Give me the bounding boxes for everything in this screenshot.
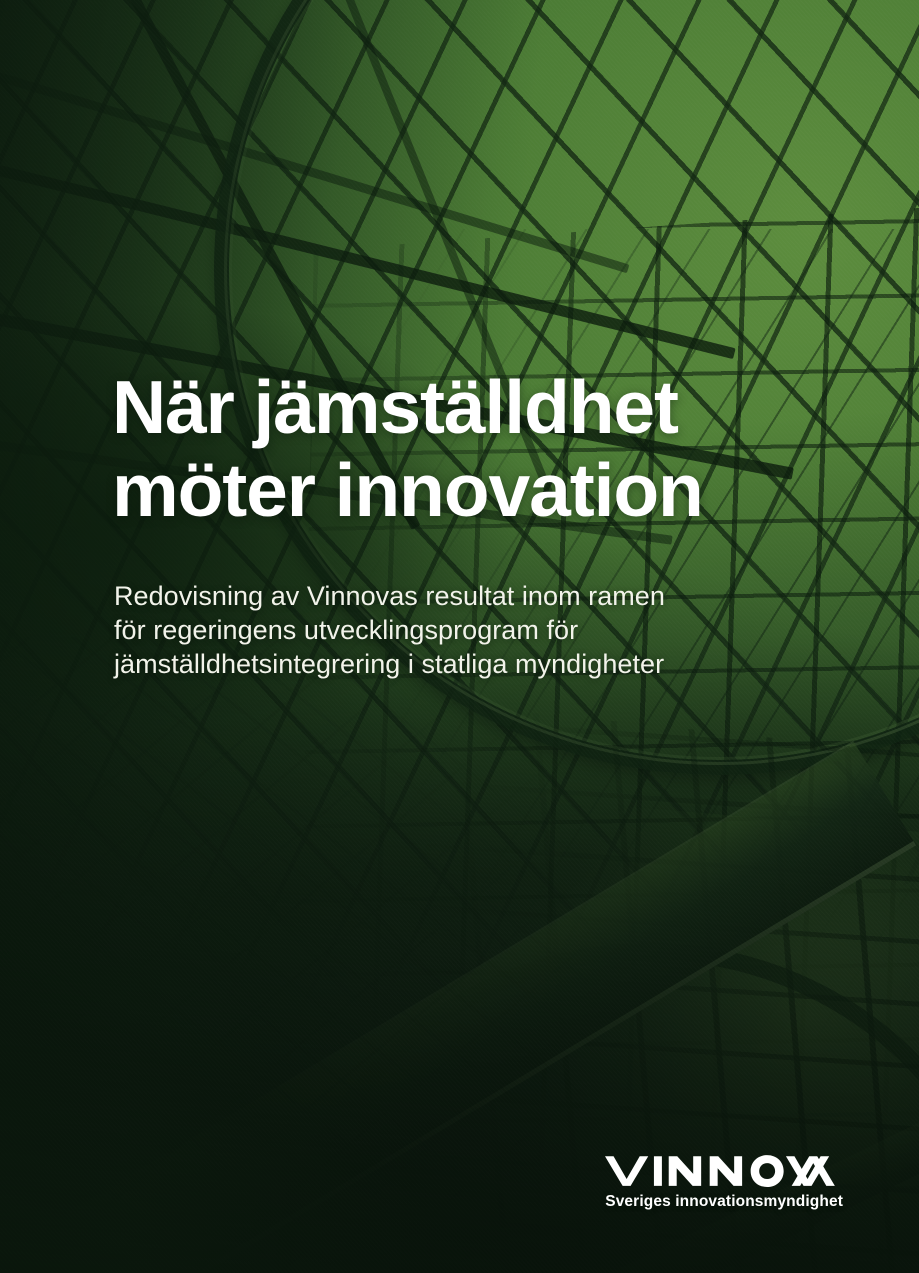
vinnova-logo: Sveriges innovationsmyndighet [605, 1154, 843, 1211]
cover-subtitle: Redovisning av Vinnovas resultat inom ra… [114, 579, 752, 681]
vinnova-tagline: Sveriges innovationsmyndighet [605, 1193, 843, 1211]
cover-subtitle-line-1: Redovisning av Vinnovas resultat inom ra… [114, 579, 752, 613]
cover-text-block: När jämställdhet möter innovation Redovi… [112, 366, 752, 681]
report-cover-page: När jämställdhet möter innovation Redovi… [0, 0, 919, 1273]
cover-subtitle-line-2: för regeringens utvecklingsprogram för [114, 613, 752, 647]
cover-subtitle-line-3: jämställdhetsintegrering i statliga mynd… [114, 647, 752, 681]
cover-title: När jämställdhet möter innovation [112, 366, 752, 533]
vinnova-wordmark-icon [605, 1154, 843, 1187]
cover-title-line-1: När jämställdhet [112, 366, 752, 449]
cover-title-line-2: möter innovation [112, 449, 752, 532]
